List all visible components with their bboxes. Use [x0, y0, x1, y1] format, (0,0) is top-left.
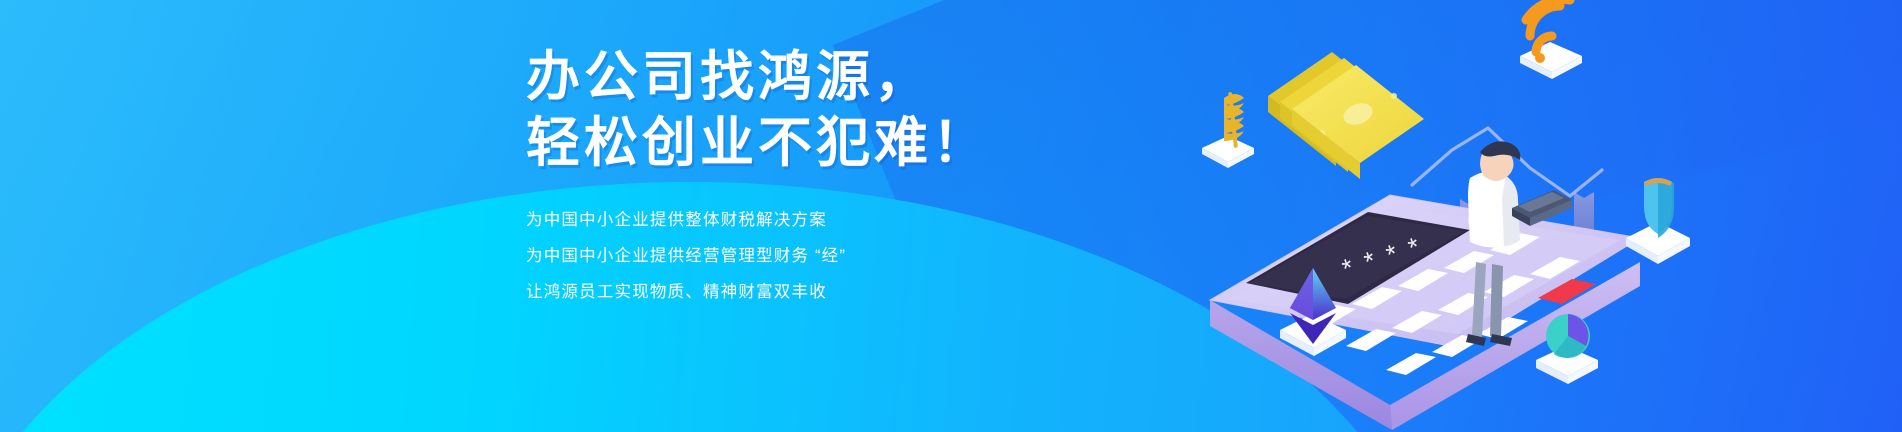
subtext-line-1: 为中国中小企业提供整体财税解决方案 [526, 202, 1046, 238]
banknote-stack [1268, 52, 1424, 179]
wifi-signal-icon [1520, 0, 1582, 79]
headline-line-1: 办公司找鸿源， [526, 44, 1046, 110]
subtext-line-2: 为中国中小企业提供经营管理型财务 “经” [526, 238, 1046, 274]
banner-illustration: * * * * [1140, 0, 1720, 432]
calculator-device: * * * * [1210, 195, 1640, 430]
banner-copy: 办公司找鸿源， 轻松创业不犯难！ 为中国中小企业提供整体财税解决方案 为中国中小… [526, 44, 1046, 310]
dollar-coin-icon [1202, 92, 1254, 168]
promo-banner: 办公司找鸿源， 轻松创业不犯难！ 为中国中小企业提供整体财税解决方案 为中国中小… [0, 0, 1902, 432]
laptop [1512, 190, 1572, 226]
shield-icon [1626, 178, 1690, 264]
headline-line-2: 轻松创业不犯难！ [526, 110, 1046, 176]
banner-headline: 办公司找鸿源， 轻松创业不犯难！ [526, 44, 1046, 176]
subtext-line-3: 让鸿源员工实现物质、精神财富双丰收 [526, 274, 1046, 310]
banner-subtext: 为中国中小企业提供整体财税解决方案 为中国中小企业提供经营管理型财务 “经” 让… [526, 202, 1046, 310]
